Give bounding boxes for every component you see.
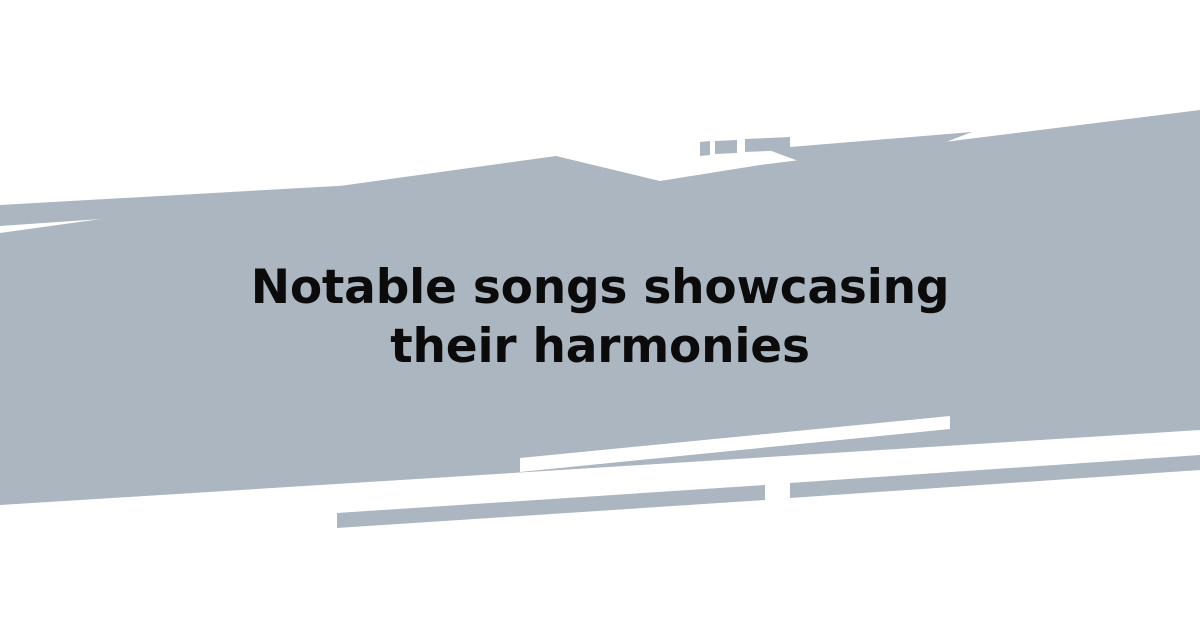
banner-canvas: Notable songs showcasing their harmonies	[0, 0, 1200, 630]
dash-medium	[745, 137, 790, 152]
decorative-background	[0, 0, 1200, 630]
dash-small-a	[700, 141, 710, 156]
dash-small-b	[715, 140, 737, 154]
